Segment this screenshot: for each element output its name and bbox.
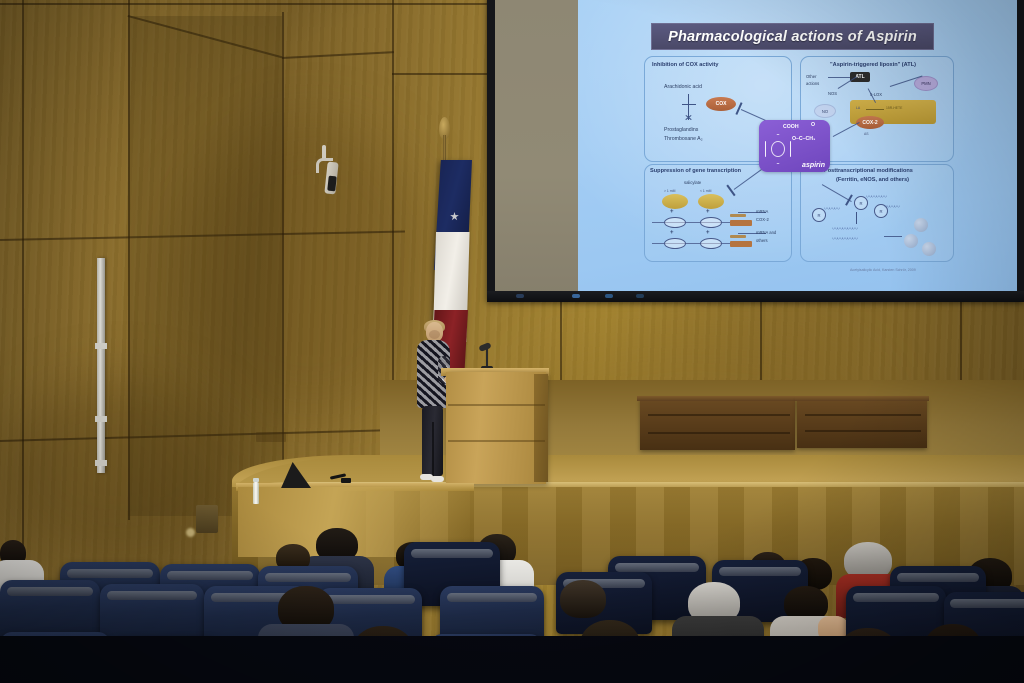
wall-seam [560,300,562,390]
arrow-cross [682,104,696,105]
podium-seam [448,440,545,442]
dna-oval [664,238,686,249]
rna-squiggle: 〰〰〰〰〰 [832,234,857,243]
projected-slide: Pharmacological actions of Aspirin Inhib… [578,0,1017,292]
rna-squiggle: 〰〰〰 [824,204,839,213]
foreground-shadow [0,636,1024,683]
slide-title-bar: Pharmacological actions of Aspirin [651,23,934,50]
slide-title-text: Pharmacological actions of Aspirin [668,29,917,45]
label-thromboxane: Thromboxane A₂ [664,136,703,142]
screen-indicator-led [572,294,580,298]
rna-squiggle: 〰〰〰〰〰 [832,224,857,233]
plus-sign: + [706,209,710,215]
promoter-mark [730,214,746,217]
back-table-line [648,414,790,416]
podium [446,372,546,484]
membrane-label-right: 15R-HETE [886,106,902,110]
quadrant-heading: Posttranscriptional modifications [824,168,913,174]
plus-sign: + [670,209,674,215]
label-cooh: COOH [783,124,799,130]
label-arachidonic-acid: Arachidonic acid [664,84,702,90]
cell-blob [914,218,928,232]
label-salicylate: salicylate [684,180,701,185]
label-mrna-othersb: others [756,238,768,243]
cell-blob [904,234,918,248]
rna-squiggle: 〰〰〰 [884,202,899,211]
screen-indicator-led [516,294,524,298]
back-table-top [637,396,797,401]
connector-line [866,109,884,110]
label-ester: O–C–CH₃ [792,136,815,142]
benzene-ring-icon [765,134,791,164]
projection-screen-bottom-bar [487,291,1024,302]
wall-conduit [97,258,105,473]
gene-block [730,220,752,226]
connector-line [884,236,902,237]
back-table-line [805,430,921,432]
no-bubble: NO [814,104,836,118]
label-aspirin: aspirin [802,162,825,169]
back-table [797,398,927,448]
label-nos: NOS [828,91,837,96]
slide-citation: Acetylsalicylic Acid, Karsten Schrör, 20… [850,268,916,272]
quadrant-heading: Suppression of gene transcription [650,168,741,174]
wall-seam [392,73,492,75]
presenter [414,322,450,486]
desk-microphone-base [341,478,351,483]
wall-plate [256,432,286,442]
cell-blob [922,242,936,256]
presenter-face-shadow [429,330,440,339]
dna-oval [664,217,686,228]
label-other: Other [806,74,816,79]
wall-conduit-joint [95,343,107,349]
dna-oval [700,217,722,228]
presenter-leg-split [432,422,434,476]
label-o: O [811,122,815,128]
presenter-shoe [431,476,444,482]
tf-blob [662,194,688,209]
wall-seam [760,300,762,386]
quadrant-heading: "Aspirin-triggered lipoxin" (ATL) [830,62,916,68]
label-mrna-others: mRNA and [756,230,776,235]
membrane-label-left: LA [856,106,860,110]
wall-conduit-joint [95,416,107,422]
back-table-line [648,432,790,434]
rna-squiggle: 〰〰〰〰 [866,192,886,201]
screen-indicator-led [636,294,644,298]
label-mrna-cox2: mRNA [756,209,768,214]
label-conc-low: < 1 mM [700,189,711,193]
wall-seam [960,300,962,384]
cox-ellipse: COX [706,97,736,111]
wall-seam [22,0,24,560]
aspirin-molecule-box: COOH O O–C–CH₃ aspirin [759,120,830,172]
quadrant-heading: Inhibition of COX activity [652,62,719,68]
water-bottle [253,482,259,504]
label-asa: AS [864,132,869,136]
audience-head [560,580,606,618]
dna-oval [700,238,722,249]
podium-seam [448,404,545,406]
back-table-line [805,414,921,416]
back-table-top [795,396,929,401]
back-table [640,398,795,450]
lecture-hall-photo: Pharmacological actions of Aspirin Inhib… [0,0,1024,683]
promoter-mark [730,235,746,238]
screen-indicator-led [605,294,613,298]
tf-blob [698,194,724,209]
wall-conduit-joint [95,460,107,466]
podium-side-panel [534,374,548,482]
gene-block [730,241,752,247]
plus-sign: + [670,230,674,236]
security-camera-lens [327,176,337,192]
plus-sign: + [706,230,710,236]
label-prostaglandins: Prostaglandins [664,127,698,133]
label-conc-high: > 1 mM [664,189,675,193]
label-mrna-cox2b: COX-2 [756,217,769,222]
cox2-ellipse: COX-2 [856,116,884,129]
quadrant-subheading: (Ferritin, eNOS, and others) [836,177,909,183]
arrow-shaft [856,212,857,224]
label-actions: actions [806,81,819,86]
